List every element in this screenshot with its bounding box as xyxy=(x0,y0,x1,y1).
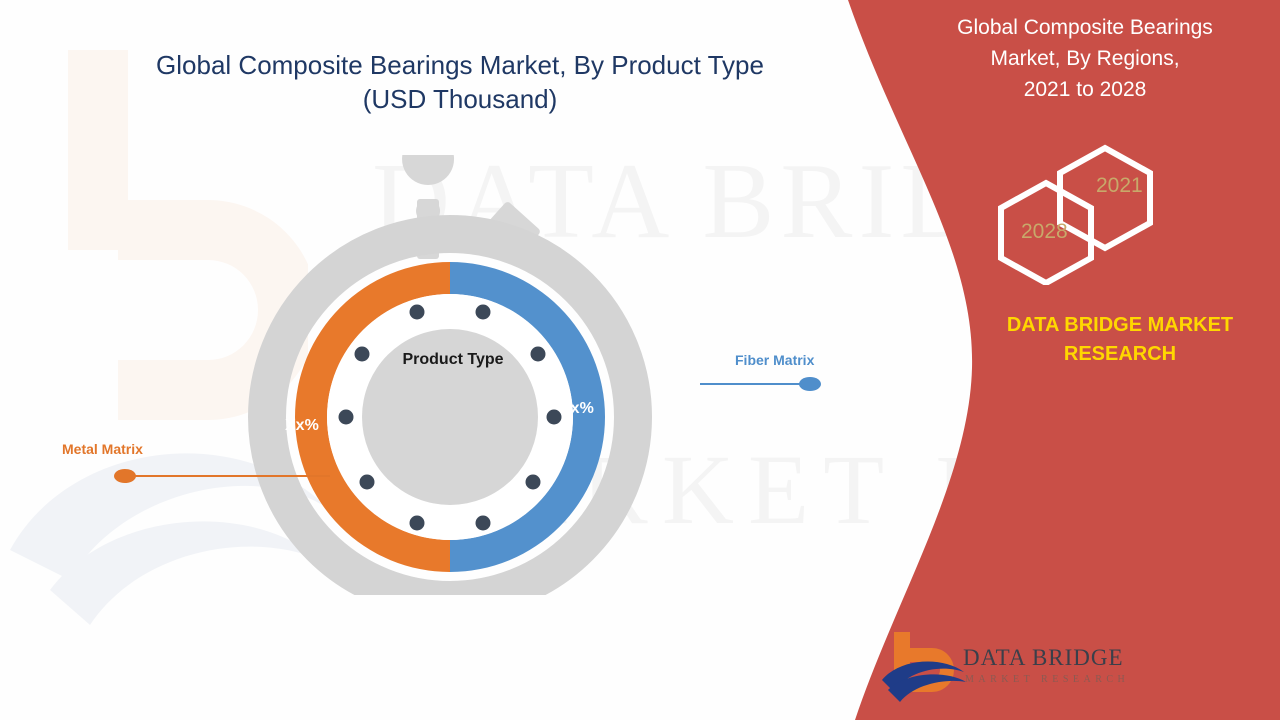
brand-heading: DATA BRIDGE MARKET RESEARCH xyxy=(960,311,1280,369)
callout-label-metal-matrix[interactable]: Metal Matrix xyxy=(62,441,143,457)
logo-wordmark-sub: MARKET RESEARCH xyxy=(965,674,1129,685)
brand-heading-line2: RESEARCH xyxy=(960,340,1280,369)
logo-wordmark-main: DATA BRIDGE xyxy=(963,645,1124,671)
center-disc xyxy=(362,329,538,505)
infographic-canvas: DATA BRIDGE MARKET RESEARCH Global Compo… xyxy=(0,0,1280,720)
product-type-donut-chart: Product Type Xx% Xx% xyxy=(243,155,663,595)
donut-svg xyxy=(243,155,663,595)
chart-title-line1: Global Composite Bearings Market, By Pro… xyxy=(150,48,770,82)
region-title-line1: Global Composite Bearings xyxy=(920,12,1250,43)
chart-title-line2: (USD Thousand) xyxy=(150,82,770,116)
brand-heading-line1: DATA BRIDGE MARKET xyxy=(960,311,1280,340)
callout-label-fiber-matrix[interactable]: Fiber Matrix xyxy=(735,352,814,368)
region-panel-title: Global Composite Bearings Market, By Reg… xyxy=(920,12,1250,105)
region-title-line3: 2021 to 2028 xyxy=(920,74,1250,105)
region-title-line2: Market, By Regions, xyxy=(920,43,1250,74)
chart-title: Global Composite Bearings Market, By Pro… xyxy=(150,48,770,116)
data-bridge-logo-mark xyxy=(880,628,970,706)
year-hexagon-group xyxy=(980,140,1210,285)
